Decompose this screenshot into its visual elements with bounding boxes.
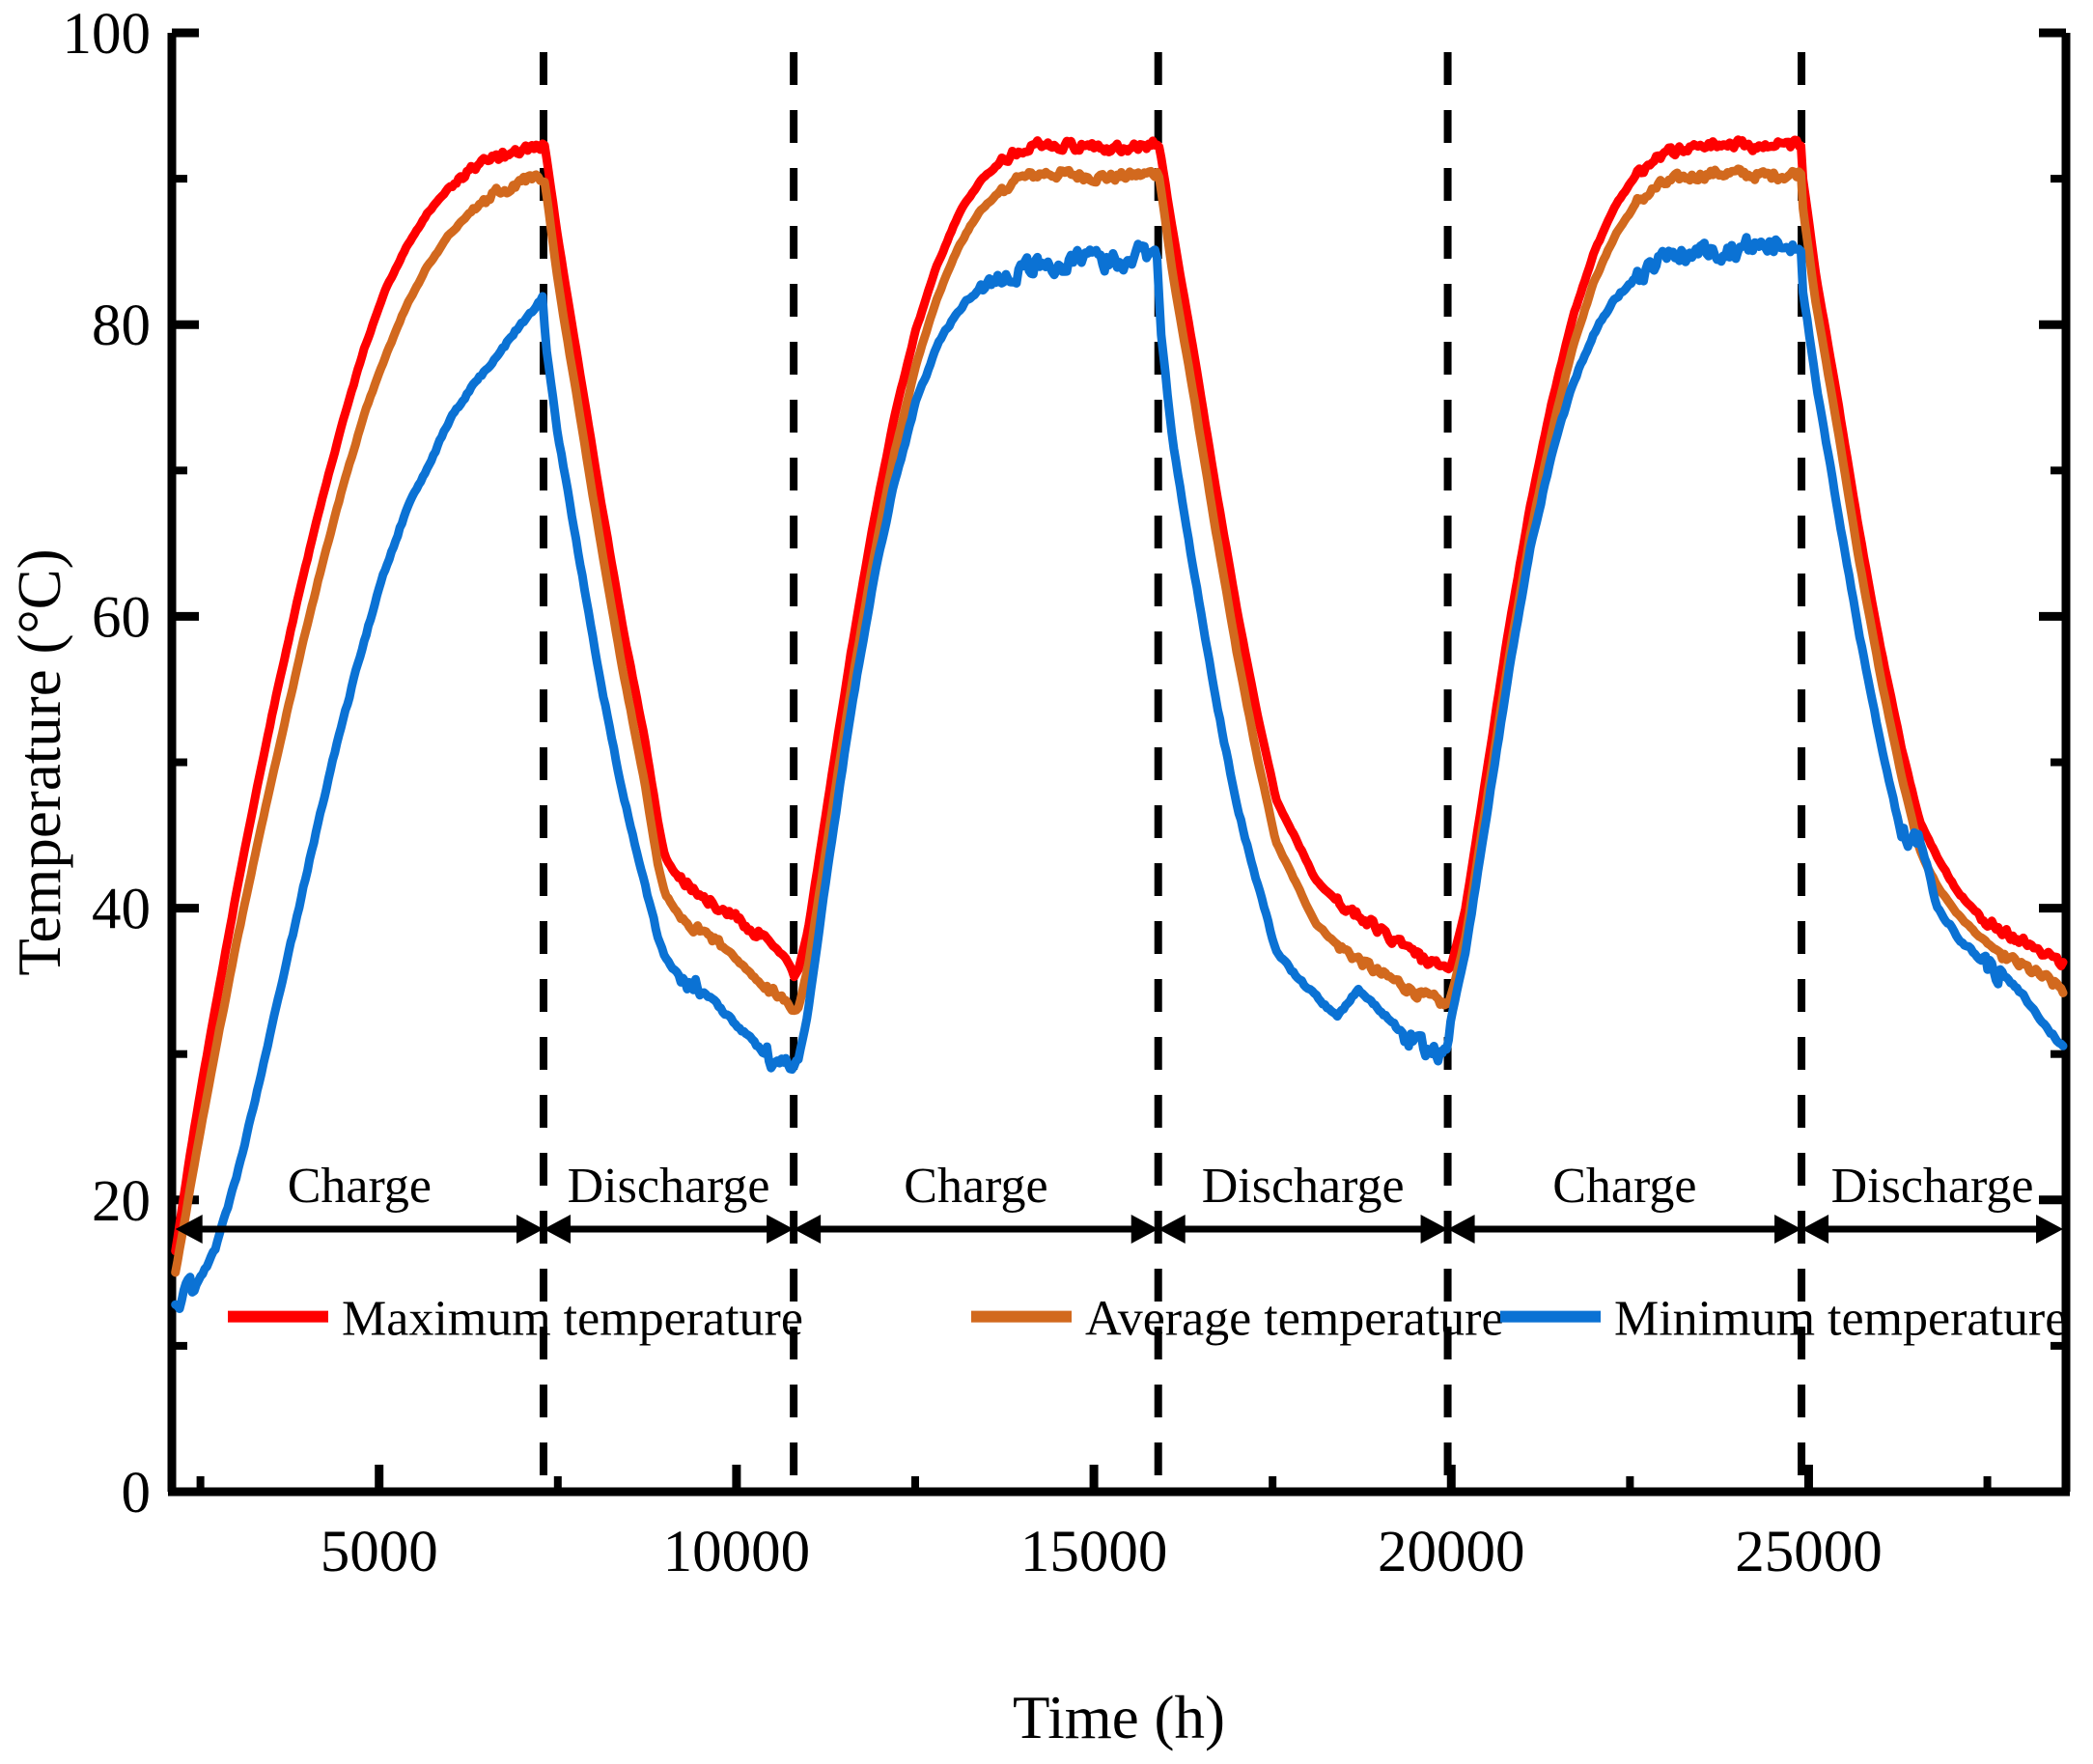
phase-label: Charge <box>904 1159 1047 1214</box>
x-tick-label: 20000 <box>1378 1520 1525 1584</box>
chart-figure: 020406080100500010000150002000025000Time… <box>0 0 2093 1764</box>
y-tick-label: 80 <box>92 294 151 358</box>
phase-label: Discharge <box>1202 1159 1405 1214</box>
y-tick-label: 60 <box>92 585 151 650</box>
x-tick-label: 15000 <box>1020 1520 1168 1584</box>
x-tick-label: 10000 <box>663 1520 811 1584</box>
phase-label: Discharge <box>568 1159 770 1214</box>
legend-label: Average temperature <box>1085 1292 1504 1347</box>
phase-label: Charge <box>1552 1159 1696 1214</box>
temperature-vs-time-line-chart: 020406080100500010000150002000025000Time… <box>0 0 2093 1764</box>
x-tick-label: 25000 <box>1735 1520 1883 1584</box>
legend-label: Maximum temperature <box>342 1292 803 1347</box>
legend-label: Minimum temperature <box>1614 1292 2067 1347</box>
y-tick-label: 20 <box>92 1169 151 1234</box>
phase-annotation: Discharge <box>1801 1159 2063 1244</box>
phase-label: Discharge <box>1831 1159 2034 1214</box>
y-tick-label: 40 <box>92 878 151 942</box>
y-tick-label: 0 <box>122 1461 152 1526</box>
legend: Maximum temperatureAverage temperatureMi… <box>228 1292 2067 1347</box>
phase-label: Charge <box>288 1159 432 1214</box>
x-axis-title: Time (h) <box>1013 1684 1225 1751</box>
x-tick-label: 5000 <box>321 1520 438 1584</box>
y-tick-label: 100 <box>63 2 152 67</box>
y-axis-title-text: Temperature (°C) <box>6 548 73 975</box>
y-axis-title: Temperature (°C) <box>6 548 73 975</box>
phase-annotation: Discharge <box>544 1159 794 1244</box>
